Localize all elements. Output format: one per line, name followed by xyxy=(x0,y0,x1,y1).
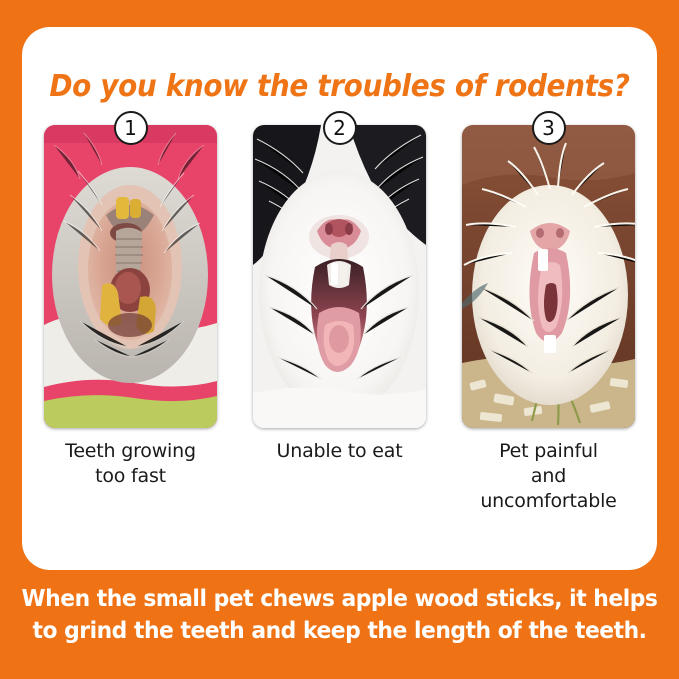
panel-badge-1: 1 xyxy=(114,111,148,145)
page-title: Do you know the troubles of rodents? xyxy=(44,69,635,104)
trouble-panel-2: 2 Unable to eat xyxy=(252,125,427,514)
caption-line-2: too fast xyxy=(95,465,166,487)
panel-badge-2: 2 xyxy=(323,111,357,145)
guinea-pig-open-mouth-photo xyxy=(462,125,635,428)
panel-caption-1: Teeth growing too fast xyxy=(43,439,218,489)
caption-line-2: and xyxy=(531,465,566,487)
footer-message: When the small pet chews apple wood stic… xyxy=(17,583,662,647)
trouble-panels: 1 Teeth growing too fast xyxy=(22,125,657,514)
photo-wrap-1: 1 xyxy=(44,125,217,428)
trouble-panel-3: 3 Pet painful and uncomfortable xyxy=(461,125,636,514)
panel-caption-3: Pet painful and uncomfortable xyxy=(461,439,636,514)
rodent-overgrown-teeth-photo xyxy=(44,125,217,428)
trouble-panel-1: 1 Teeth growing too fast xyxy=(43,125,218,514)
photo-wrap-2: 2 xyxy=(253,125,426,428)
caption-line-1: Teeth growing xyxy=(65,440,196,462)
caption-line-1: Unable to eat xyxy=(277,440,403,462)
caption-line-3: uncomfortable xyxy=(480,490,616,512)
footer-line-1: When the small pet chews apple wood stic… xyxy=(17,583,662,615)
rabbit-open-mouth-photo xyxy=(253,125,426,428)
photo-wrap-3: 3 xyxy=(462,125,635,428)
caption-line-1: Pet painful xyxy=(499,440,598,462)
panel-badge-3: 3 xyxy=(532,111,566,145)
footer-line-2: to grind the teeth and keep the length o… xyxy=(17,615,662,647)
white-content-card: Do you know the troubles of rodents? xyxy=(22,27,657,570)
promo-poster: Do you know the troubles of rodents? xyxy=(0,0,679,679)
panel-caption-2: Unable to eat xyxy=(252,439,427,464)
